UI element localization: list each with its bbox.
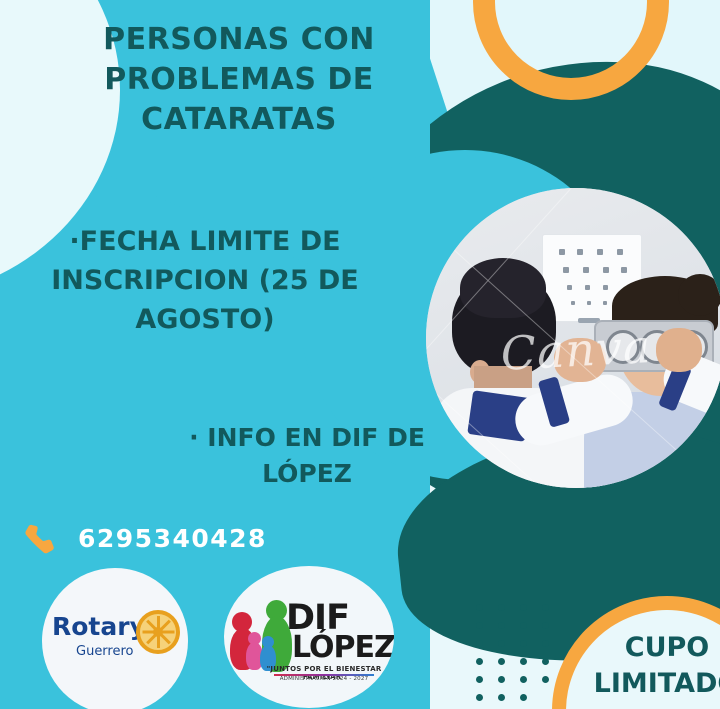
phone-icon (20, 520, 64, 564)
info-location-text: · INFO EN DIF DE LÓPEZ (172, 420, 442, 493)
deadline-text: ·FECHA LIMITE DE INSCRIPCION (25 DE AGOS… (30, 222, 380, 339)
phone-number: 6295340428 (78, 524, 267, 553)
dif-lopez-word: LÓPEZ (292, 634, 394, 662)
rotary-logo: Rotary Guerrero (42, 568, 188, 709)
eye-exam-photo: Canva (426, 188, 720, 488)
page-title: PERSONAS CON PROBLEMAS DE CATARATAS (74, 20, 404, 141)
limited-spots-text: CUPO LIMITADO (572, 630, 720, 703)
rotary-name: Rotary (52, 614, 144, 639)
dif-lopez-logo: DIF LÓPEZ "JUNTOS POR EL BIENESTAR FAMIL… (224, 566, 394, 708)
contact-row: 6295340428 (20, 516, 280, 570)
poster-flyer: Canva PERSONAS CON PROBLEMAS DE CATARATA… (0, 0, 720, 709)
dif-administration: ADMINISTRACIÓN 2024 - 2027 (260, 676, 388, 682)
rotary-wheel-icon (136, 610, 180, 654)
rotary-district: Guerrero (76, 644, 134, 659)
canva-watermark: Canva (499, 319, 652, 381)
